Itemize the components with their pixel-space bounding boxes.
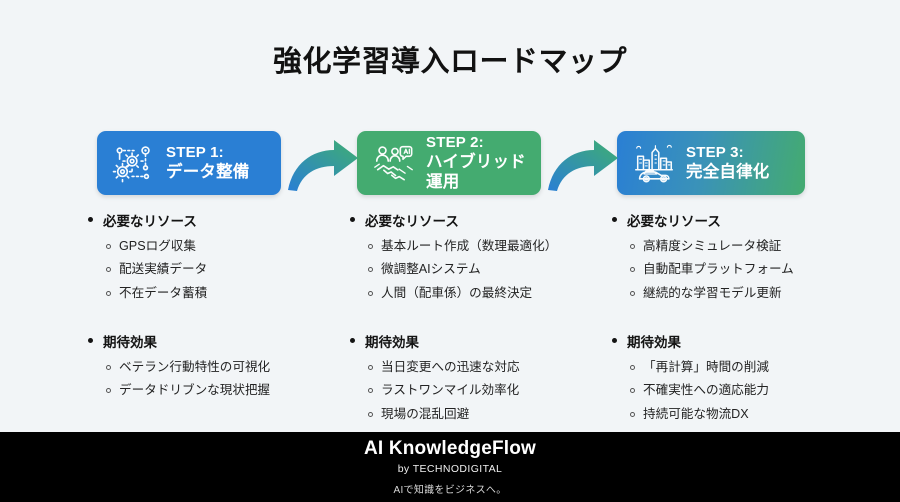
list-item: 現場の混乱回避: [350, 406, 610, 422]
group-heading-label: 必要なリソース: [103, 210, 197, 230]
page-title: 強化学習導入ロードマップ: [0, 38, 900, 80]
group-resources-2: 必要なリソース 基本ルート作成（数理最適化） 微調整AIシステム 人間（配車係）…: [350, 210, 610, 301]
group-heading-label: 期待効果: [365, 331, 419, 351]
footer-by-line: by TECHNODIGITAL: [398, 463, 503, 475]
sub-list: 「再計算」時間の削減 不確実性への適応能力 持続可能な物流DX: [612, 359, 872, 422]
list-item: 不在データ蓄積: [88, 285, 348, 301]
step-label-2: STEP 2:: [426, 134, 541, 152]
group-heading-row: 期待効果: [350, 331, 610, 351]
group-heading-row: 期待効果: [612, 331, 872, 351]
sub-list: 高精度シミュレータ検証 自動配車プラットフォーム 継続的な学習モデル更新: [612, 238, 872, 301]
list-item-label: 自動配車プラットフォーム: [643, 261, 794, 277]
list-item: ベテラン行動特性の可視化: [88, 359, 348, 375]
list-item: 自動配車プラットフォーム: [612, 261, 872, 277]
list-item: 不確実性への適応能力: [612, 382, 872, 398]
group-heading-label: 期待効果: [627, 331, 681, 351]
connector-arrow-2: [541, 133, 625, 195]
list-item: 基本ルート作成（数理最適化）: [350, 238, 610, 254]
sub-list: 基本ルート作成（数理最適化） 微調整AIシステム 人間（配車係）の最終決定: [350, 238, 610, 301]
step-name-2: ハイブリッド運用: [426, 152, 541, 192]
curved-arrow-right-icon: [281, 133, 365, 195]
details-column-1: 必要なリソース GPSログ収集 配送実績データ 不在データ蓄積: [88, 210, 348, 406]
city-autonomous-car-icon: [631, 140, 677, 186]
slide-root: 強化学習導入ロードマップ: [0, 0, 900, 502]
group-resources-1: 必要なリソース GPSログ収集 配送実績データ 不在データ蓄積: [88, 210, 348, 301]
list-item: データドリブンな現状把握: [88, 382, 348, 398]
group-effects-3: 期待効果 「再計算」時間の削減 不確実性への適応能力 持続可能な物流DX: [612, 331, 872, 422]
filled-bullet-icon: [88, 217, 93, 222]
group-heading-row: 必要なリソース: [612, 210, 872, 230]
gears-network-icon: [111, 140, 157, 186]
hollow-bullet-icon: [106, 267, 111, 272]
step-text-2: STEP 2: ハイブリッド運用: [426, 134, 541, 193]
hollow-bullet-icon: [368, 388, 373, 393]
details-column-3: 必要なリソース 高精度シミュレータ検証 自動配車プラットフォーム 継続的な学習モ…: [612, 210, 872, 429]
hollow-bullet-icon: [106, 291, 111, 296]
list-item-label: 継続的な学習モデル更新: [643, 285, 782, 301]
hollow-bullet-icon: [368, 412, 373, 417]
list-item-label: 現場の混乱回避: [381, 406, 469, 422]
hollow-bullet-icon: [630, 388, 635, 393]
list-item-label: GPSログ収集: [119, 238, 196, 254]
step-name-1: データ整備: [166, 162, 250, 182]
filled-bullet-icon: [612, 217, 617, 222]
list-item: 持続可能な物流DX: [612, 406, 872, 422]
hollow-bullet-icon: [106, 388, 111, 393]
list-item-label: 不在データ蓄積: [119, 285, 207, 301]
list-item: ラストワンマイル効率化: [350, 382, 610, 398]
group-heading-row: 期待効果: [88, 331, 348, 351]
sub-list: ベテラン行動特性の可視化 データドリブンな現状把握: [88, 359, 348, 399]
hollow-bullet-icon: [368, 291, 373, 296]
steps-row: STEP 1: データ整備 STE: [0, 131, 900, 197]
list-item-label: 高精度シミュレータ検証: [643, 238, 781, 254]
filled-bullet-icon: [88, 338, 93, 343]
list-item-label: データドリブンな現状把握: [119, 382, 270, 398]
sub-list: GPSログ収集 配送実績データ 不在データ蓄積: [88, 238, 348, 301]
list-item: 継続的な学習モデル更新: [612, 285, 872, 301]
list-item: 配送実績データ: [88, 261, 348, 277]
list-item: 微調整AIシステム: [350, 261, 610, 277]
group-heading-row: 必要なリソース: [88, 210, 348, 230]
group-heading-label: 期待効果: [103, 331, 157, 351]
filled-bullet-icon: [350, 338, 355, 343]
hollow-bullet-icon: [368, 267, 373, 272]
hollow-bullet-icon: [630, 244, 635, 249]
hollow-bullet-icon: [106, 365, 111, 370]
step-box-3[interactable]: STEP 3: 完全自律化: [617, 131, 805, 195]
step-box-1[interactable]: STEP 1: データ整備: [97, 131, 281, 195]
step-box-2[interactable]: STEP 2: ハイブリッド運用: [357, 131, 541, 195]
list-item-label: 当日変更への迅速な対応: [381, 359, 520, 375]
step-label-3: STEP 3:: [686, 144, 770, 162]
list-item: 「再計算」時間の削減: [612, 359, 872, 375]
list-item: 人間（配車係）の最終決定: [350, 285, 610, 301]
hollow-bullet-icon: [368, 365, 373, 370]
hollow-bullet-icon: [630, 365, 635, 370]
list-item: 高精度シミュレータ検証: [612, 238, 872, 254]
connector-arrow-1: [281, 133, 365, 195]
step-text-3: STEP 3: 完全自律化: [686, 144, 770, 182]
step-text-1: STEP 1: データ整備: [166, 144, 250, 182]
hollow-bullet-icon: [106, 244, 111, 249]
sub-list: 当日変更への迅速な対応 ラストワンマイル効率化 現場の混乱回避: [350, 359, 610, 422]
footer-tagline: AIで知識をビジネスへ。: [393, 481, 506, 496]
list-item-label: 持続可能な物流DX: [643, 406, 749, 422]
group-effects-1: 期待効果 ベテラン行動特性の可視化 データドリブンな現状把握: [88, 331, 348, 399]
list-item-label: 配送実績データ: [119, 261, 207, 277]
hollow-bullet-icon: [630, 267, 635, 272]
filled-bullet-icon: [350, 217, 355, 222]
curved-arrow-right-icon: [541, 133, 625, 195]
handshake-people-ai-icon: [371, 140, 417, 186]
list-item-label: 不確実性への適応能力: [643, 382, 769, 398]
list-item-label: 「再計算」時間の削減: [643, 359, 769, 375]
list-item: GPSログ収集: [88, 238, 348, 254]
list-item: 当日変更への迅速な対応: [350, 359, 610, 375]
hollow-bullet-icon: [630, 291, 635, 296]
details-columns: 必要なリソース GPSログ収集 配送実績データ 不在データ蓄積: [0, 210, 900, 425]
list-item-label: 人間（配車係）の最終決定: [381, 285, 532, 301]
hollow-bullet-icon: [630, 412, 635, 417]
group-heading-label: 必要なリソース: [627, 210, 721, 230]
list-item-label: ラストワンマイル効率化: [381, 382, 519, 398]
list-item-label: ベテラン行動特性の可視化: [119, 359, 270, 375]
hollow-bullet-icon: [368, 244, 373, 249]
group-effects-2: 期待効果 当日変更への迅速な対応 ラストワンマイル効率化 現場の混乱回避: [350, 331, 610, 422]
footer-brand: AI KnowledgeFlow: [364, 438, 536, 460]
details-column-2: 必要なリソース 基本ルート作成（数理最適化） 微調整AIシステム 人間（配車係）…: [350, 210, 610, 429]
step-label-1: STEP 1:: [166, 144, 250, 162]
group-heading-label: 必要なリソース: [365, 210, 459, 230]
list-item-label: 基本ルート作成（数理最適化）: [381, 238, 557, 254]
group-heading-row: 必要なリソース: [350, 210, 610, 230]
list-item-label: 微調整AIシステム: [381, 261, 481, 277]
step-name-3: 完全自律化: [686, 162, 770, 182]
group-resources-3: 必要なリソース 高精度シミュレータ検証 自動配車プラットフォーム 継続的な学習モ…: [612, 210, 872, 301]
filled-bullet-icon: [612, 338, 617, 343]
footer-bar: AI KnowledgeFlow by TECHNODIGITAL AIで知識を…: [0, 432, 900, 502]
